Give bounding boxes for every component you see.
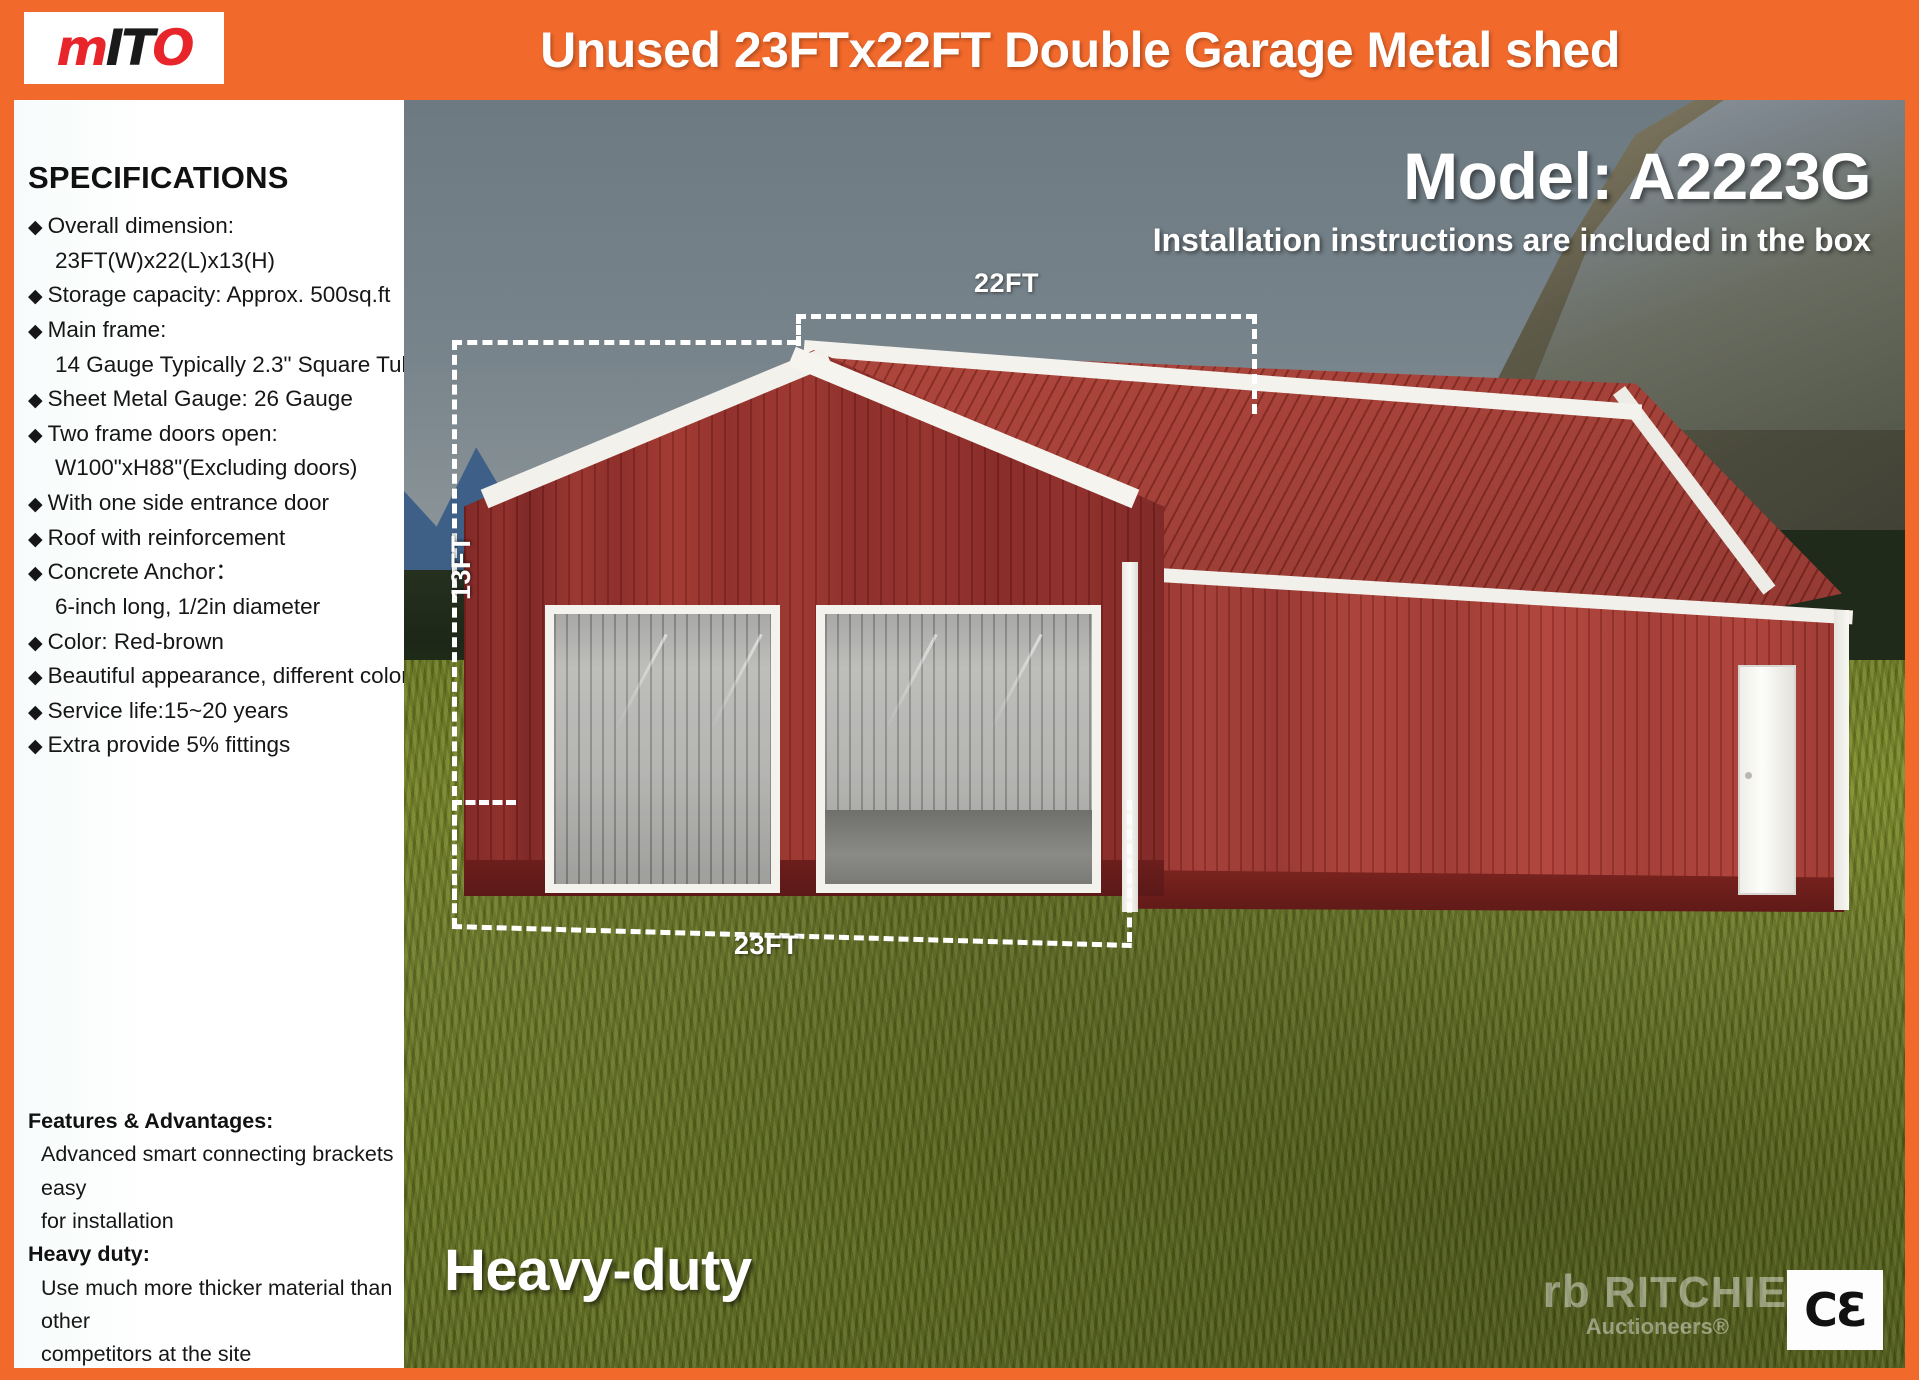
specifications-panel: SPECIFICATIONS ◆Overall dimension: 23FT(… <box>14 100 404 1368</box>
heavy-duty-body-line: Use much more thicker material than othe… <box>28 1272 413 1339</box>
spec-sub: 14 Gauge Typically 2.3" Square Tube <box>28 349 394 382</box>
features-body-line: for installation <box>28 1205 413 1238</box>
spec-item: ◆Main frame: <box>28 314 394 347</box>
diamond-bullet-icon: ◆ <box>28 286 43 307</box>
model-label: Model: A2223G <box>1403 138 1871 214</box>
logo-wordmark: mITO <box>56 23 191 73</box>
features-heading: Features & Advantages: <box>28 1105 413 1138</box>
logo-part-1: m <box>56 19 105 77</box>
spec-label: Overall dimension: <box>48 213 234 238</box>
spec-label: Beautiful appearance, different colors <box>48 663 420 688</box>
spec-label: Roof with reinforcement <box>48 525 286 550</box>
diamond-bullet-icon: ◆ <box>28 563 43 584</box>
diamond-bullet-icon: ◆ <box>28 633 43 654</box>
dimension-label-depth: 23FT <box>734 930 799 961</box>
rear-corner-post <box>1834 610 1849 910</box>
depth-dimension-riser-right <box>1127 800 1132 942</box>
spec-item: ◆Sheet Metal Gauge: 26 Gauge <box>28 383 394 416</box>
spec-sub: W100"xH88"(Excluding doors) <box>28 452 394 485</box>
spec-item: ◆Concrete Anchor： <box>28 556 394 589</box>
garage-interior-floor <box>825 810 1092 884</box>
door-handle-icon <box>1745 772 1752 779</box>
spec-item: ◆Two frame doors open: <box>28 418 394 451</box>
spec-item: ◆Storage capacity: Approx. 500sq.ft <box>28 279 394 312</box>
spec-label: Service life:15~20 years <box>48 698 289 723</box>
logo-part-2: IT <box>105 19 152 77</box>
heavy-duty-callout: Heavy-duty <box>444 1237 752 1304</box>
diamond-bullet-icon: ◆ <box>28 529 43 550</box>
features-body-line: Advanced smart connecting brackets easy <box>28 1138 413 1205</box>
installation-note: Installation instructions are included i… <box>1153 222 1871 259</box>
spec-item: ◆Beautiful appearance, different colors <box>28 660 394 693</box>
spec-sub: 6-inch long, 1/2in diameter <box>28 591 394 624</box>
spec-item: ◆Service life:15~20 years <box>28 695 394 728</box>
page-title: Unused 23FTx22FT Double Garage Metal she… <box>300 0 1860 100</box>
height-dimension-tick <box>452 800 516 805</box>
diamond-bullet-icon: ◆ <box>28 425 43 446</box>
specifications-list: ◆Overall dimension: 23FT(W)x22(L)x13(H) … <box>28 210 394 762</box>
width-dimension-riser-right <box>1252 314 1257 414</box>
width-dimension-line <box>796 314 1256 319</box>
heavy-duty-heading: Heavy duty: <box>28 1238 413 1271</box>
product-advertisement-page: mITO Unused 23FTx22FT Double Garage Meta… <box>0 0 1919 1380</box>
heavy-duty-body-line: competitors at the site <box>28 1338 413 1371</box>
side-entrance-door <box>1738 665 1796 895</box>
spec-label: Concrete Anchor： <box>48 559 238 584</box>
diamond-bullet-icon: ◆ <box>28 390 43 411</box>
spec-label: Storage capacity: Approx. 500sq.ft <box>48 282 391 307</box>
metal-shed-building <box>404 100 1905 1368</box>
height-dimension-leader <box>452 340 797 345</box>
spec-label: With one side entrance door <box>48 490 329 515</box>
spec-label: Main frame: <box>48 317 167 342</box>
diamond-bullet-icon: ◆ <box>28 736 43 757</box>
diamond-bullet-icon: ◆ <box>28 667 43 688</box>
ce-mark: CƐ <box>1787 1270 1883 1350</box>
logo-part-3: O <box>152 19 192 77</box>
depth-dimension-riser-left <box>452 800 457 928</box>
diamond-bullet-icon: ◆ <box>28 494 43 515</box>
header-bar: mITO Unused 23FTx22FT Double Garage Meta… <box>0 0 1919 100</box>
spec-label: Sheet Metal Gauge: 26 Gauge <box>48 386 353 411</box>
spec-label: Two frame doors open: <box>48 421 278 446</box>
product-photo: 13FT 22FT 23FT Model: A2223G Installatio… <box>404 100 1905 1368</box>
dimension-label-height: 13FT <box>446 535 477 600</box>
spec-label: Color: Red-brown <box>48 629 224 654</box>
dimension-label-width: 22FT <box>974 268 1039 299</box>
diamond-bullet-icon: ◆ <box>28 217 43 238</box>
garage-bay-left-interior <box>554 614 771 884</box>
spec-sub: 23FT(W)x22(L)x13(H) <box>28 245 394 278</box>
mito-logo: mITO <box>24 12 224 84</box>
spec-label: Extra provide 5% fittings <box>48 732 291 757</box>
diamond-bullet-icon: ◆ <box>28 702 43 723</box>
spec-item: ◆Roof with reinforcement <box>28 522 394 555</box>
specifications-heading: SPECIFICATIONS <box>28 160 394 196</box>
spec-item: ◆Extra provide 5% fittings <box>28 729 394 762</box>
spec-item: ◆With one side entrance door <box>28 487 394 520</box>
spec-item: ◆Overall dimension: <box>28 210 394 243</box>
features-advantages-block: Features & Advantages: Advanced smart co… <box>28 1105 413 1372</box>
spec-item: ◆Color: Red-brown <box>28 626 394 659</box>
diamond-bullet-icon: ◆ <box>28 321 43 342</box>
ce-mark-label: CƐ <box>1804 1283 1866 1337</box>
